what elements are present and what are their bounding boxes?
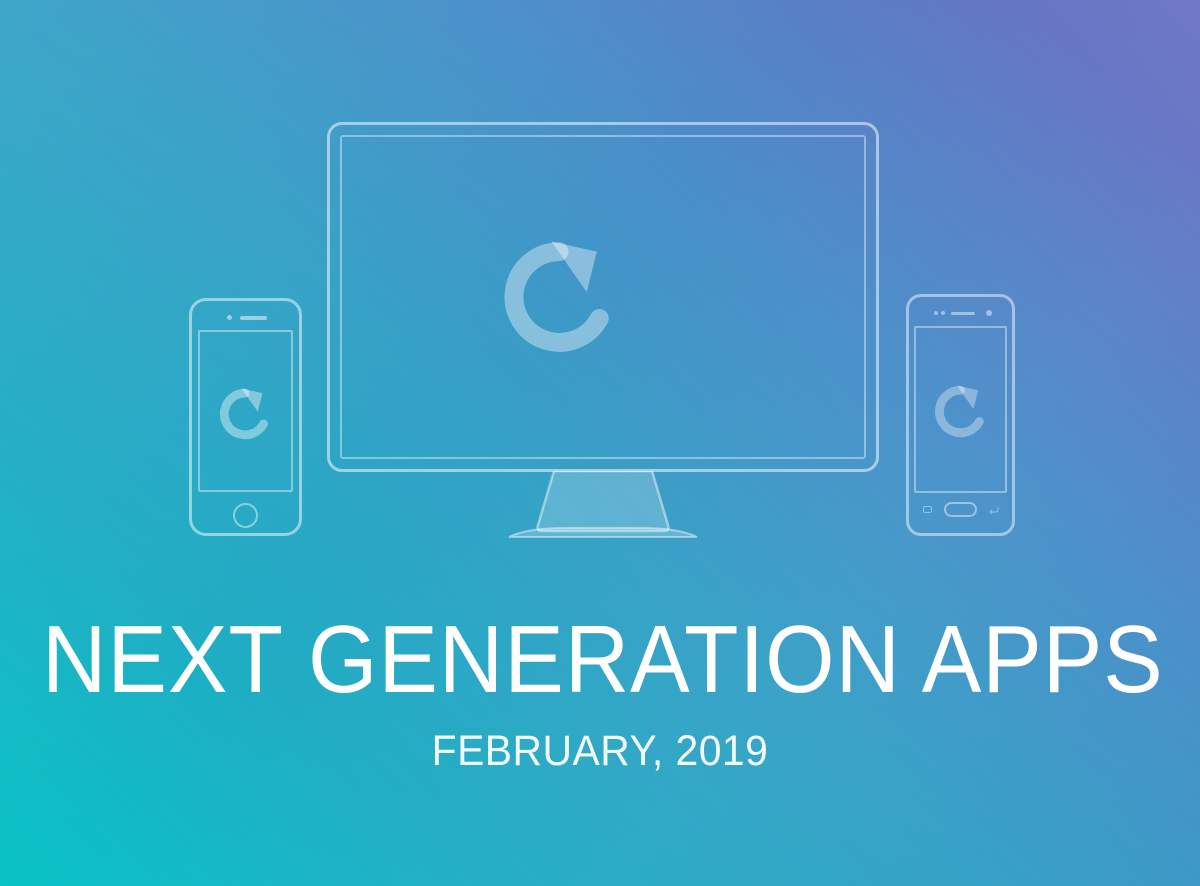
page-title: NEXT GENERATION APPS	[42, 612, 1158, 708]
earpiece-speaker-icon	[240, 316, 267, 320]
android-device	[906, 294, 1015, 536]
front-camera-icon	[986, 310, 992, 316]
poster-canvas: NEXT GENERATION APPS FEBRUARY, 2019	[0, 0, 1200, 886]
desktop-monitor	[327, 122, 879, 537]
proximity-sensor-icon	[934, 311, 938, 315]
refresh-icon	[216, 385, 274, 443]
page-subtitle: FEBRUARY, 2019	[30, 730, 1170, 773]
home-button	[944, 502, 977, 517]
caption-block: NEXT GENERATION APPS FEBRUARY, 2019	[0, 612, 1200, 773]
monitor-stand-base	[505, 526, 701, 540]
device-illustration-group	[0, 0, 1200, 600]
iphone-device	[189, 298, 302, 536]
back-button-icon	[989, 506, 999, 514]
recents-button-icon	[923, 506, 932, 513]
light-sensor-icon	[941, 311, 945, 315]
front-camera-icon	[227, 315, 232, 320]
earpiece-speaker-icon	[951, 312, 975, 315]
refresh-icon	[931, 382, 990, 441]
home-button	[233, 503, 258, 528]
monitor-stand-neck	[532, 471, 674, 533]
refresh-icon	[496, 234, 622, 360]
